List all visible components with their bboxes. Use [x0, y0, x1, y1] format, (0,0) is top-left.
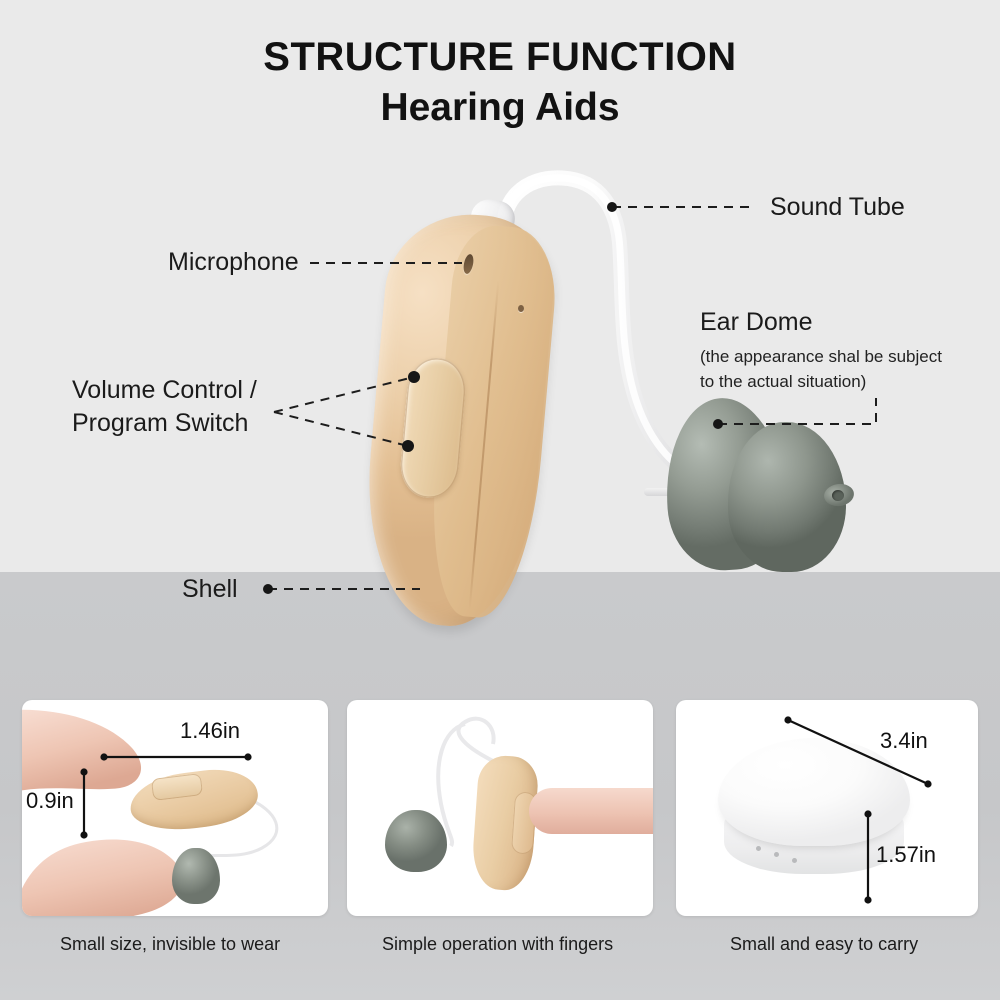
label-shell: Shell	[182, 575, 238, 604]
infographic-canvas: STRUCTURE FUNCTION Hearing Aids	[0, 0, 1000, 1000]
label-ear-dome-note-line2: to the actual situation)	[700, 372, 866, 391]
panel-2-caption: Simple operation with fingers	[382, 934, 613, 955]
secondary-port	[518, 305, 524, 312]
ear-dome-graphic	[666, 396, 856, 581]
ear-dome-aperture	[832, 490, 844, 501]
label-ear-dome: Ear Dome	[700, 308, 813, 337]
panel-3-dim-height: 1.57in	[876, 842, 936, 868]
panel-3-dimension-lines	[676, 700, 978, 916]
feature-panel-1: 1.46in 0.9in	[22, 700, 328, 916]
feature-panel-3: 3.4in 1.57in	[676, 700, 978, 916]
panel-1-dim-height: 0.9in	[26, 788, 74, 814]
panel-1-dim-width: 1.46in	[180, 718, 240, 744]
feature-panel-2	[347, 700, 653, 916]
label-volume-control-line2: Program Switch	[72, 409, 248, 437]
label-volume-control-line1: Volume Control /	[72, 376, 257, 404]
panel-1-caption: Small size, invisible to wear	[60, 934, 280, 955]
label-microphone: Microphone	[168, 248, 299, 277]
label-sound-tube: Sound Tube	[770, 193, 905, 222]
label-ear-dome-note-line1: (the appearance shal be subject	[700, 347, 942, 366]
hearing-aid-device	[352, 200, 572, 630]
label-volume-control: Volume Control /Program Switch	[72, 374, 257, 440]
panel-2-finger	[529, 788, 653, 834]
label-ear-dome-note: (the appearance shal be subjectto the ac…	[700, 344, 942, 394]
panel-2-ear-dome	[385, 810, 447, 872]
panel-3-dim-length: 3.4in	[880, 728, 928, 754]
panel-3-caption: Small and easy to carry	[730, 934, 918, 955]
